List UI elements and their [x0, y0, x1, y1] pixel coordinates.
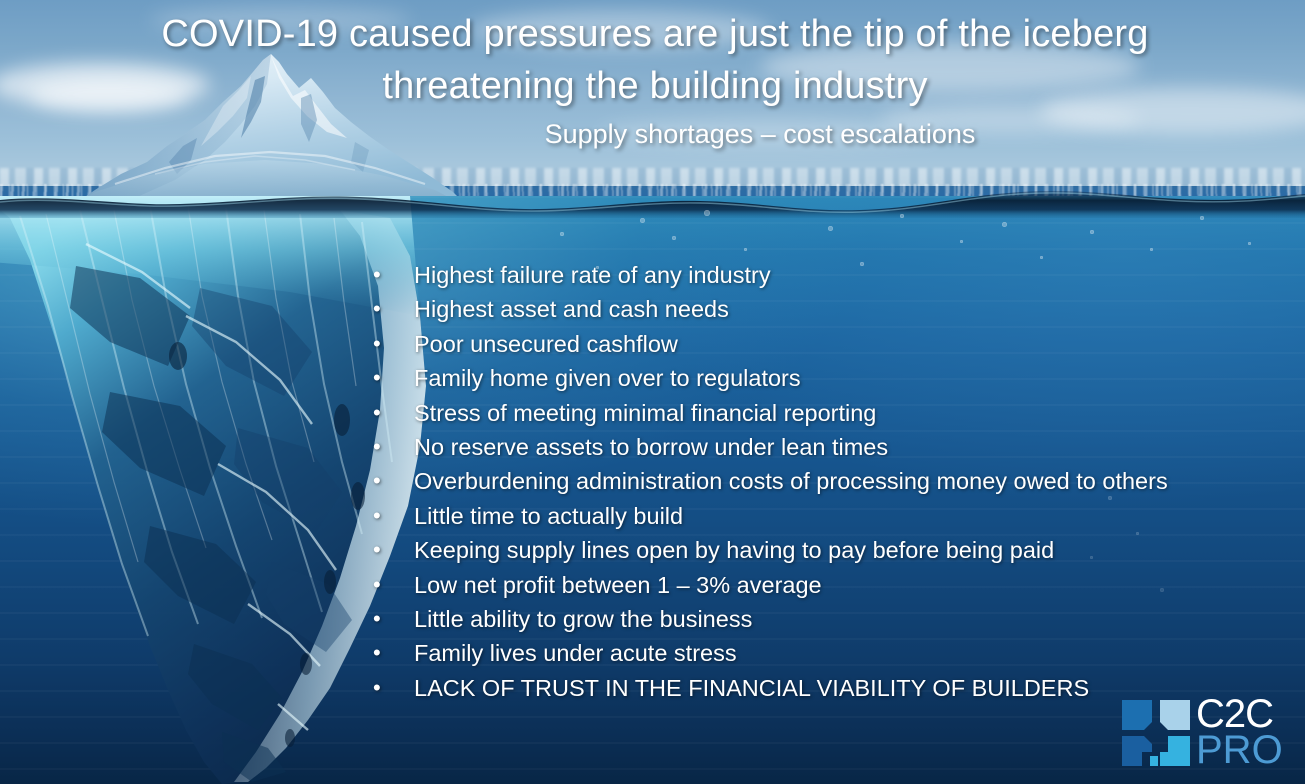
list-item-label: No reserve assets to borrow under lean t… — [414, 430, 1298, 464]
bullet-marker-icon: • — [368, 361, 414, 395]
logo-secondary-text: PRO — [1196, 730, 1283, 770]
bullet-marker-icon: • — [368, 533, 414, 567]
bullet-marker-icon: • — [368, 292, 414, 326]
list-item-label: Family home given over to regulators — [414, 361, 1298, 395]
bullet-list: • Highest failure rate of any industry •… — [368, 258, 1298, 705]
bullet-marker-icon: • — [368, 671, 414, 705]
slide-title: COVID-19 caused pressures are just the t… — [110, 8, 1200, 112]
bullet-marker-icon: • — [368, 499, 414, 533]
list-item-label: Low net profit between 1 – 3% average — [414, 568, 1298, 602]
list-item: • Stress of meeting minimal financial re… — [368, 396, 1298, 430]
bullet-marker-icon: • — [368, 258, 414, 292]
bullet-marker-icon: • — [368, 602, 414, 636]
list-item: • Little time to actually build — [368, 499, 1298, 533]
slide-subtitle: Supply shortages – cost escalations — [300, 117, 1220, 151]
bullet-marker-icon: • — [368, 327, 414, 361]
bullet-marker-icon: • — [368, 568, 414, 602]
c2c-pro-square-grid-mark-icon — [1122, 700, 1194, 766]
list-item: • Little ability to grow the business — [368, 602, 1298, 636]
list-item: • Family lives under acute stress — [368, 636, 1298, 670]
list-item-label: Highest asset and cash needs — [414, 292, 1298, 326]
list-item: • Highest failure rate of any industry — [368, 258, 1298, 292]
list-item-label: Family lives under acute stress — [414, 636, 1298, 670]
presentation-slide: COVID-19 caused pressures are just the t… — [0, 0, 1305, 784]
bullet-marker-icon: • — [368, 464, 414, 498]
c2c-pro-logo: C2C PRO — [1122, 698, 1298, 776]
list-item: • No reserve assets to borrow under lean… — [368, 430, 1298, 464]
list-item-label: Little ability to grow the business — [414, 602, 1298, 636]
list-item: • Highest asset and cash needs — [368, 292, 1298, 326]
list-item: • Family home given over to regulators — [368, 361, 1298, 395]
list-item-label: Little time to actually build — [414, 499, 1298, 533]
list-item-label: Overburdening administration costs of pr… — [414, 464, 1298, 498]
list-item: • Keeping supply lines open by having to… — [368, 533, 1298, 567]
bullet-marker-icon: • — [368, 636, 414, 670]
list-item-label: Highest failure rate of any industry — [414, 258, 1298, 292]
list-item-label: Keeping supply lines open by having to p… — [414, 533, 1298, 567]
bullet-marker-icon: • — [368, 430, 414, 464]
list-item: • Overburdening administration costs of … — [368, 464, 1298, 498]
bullet-marker-icon: • — [368, 396, 414, 430]
list-item-label: Stress of meeting minimal financial repo… — [414, 396, 1298, 430]
list-item-label: Poor unsecured cashflow — [414, 327, 1298, 361]
list-item: • Poor unsecured cashflow — [368, 327, 1298, 361]
list-item: • Low net profit between 1 – 3% average — [368, 568, 1298, 602]
logo-wordmark: C2C PRO — [1196, 694, 1300, 774]
